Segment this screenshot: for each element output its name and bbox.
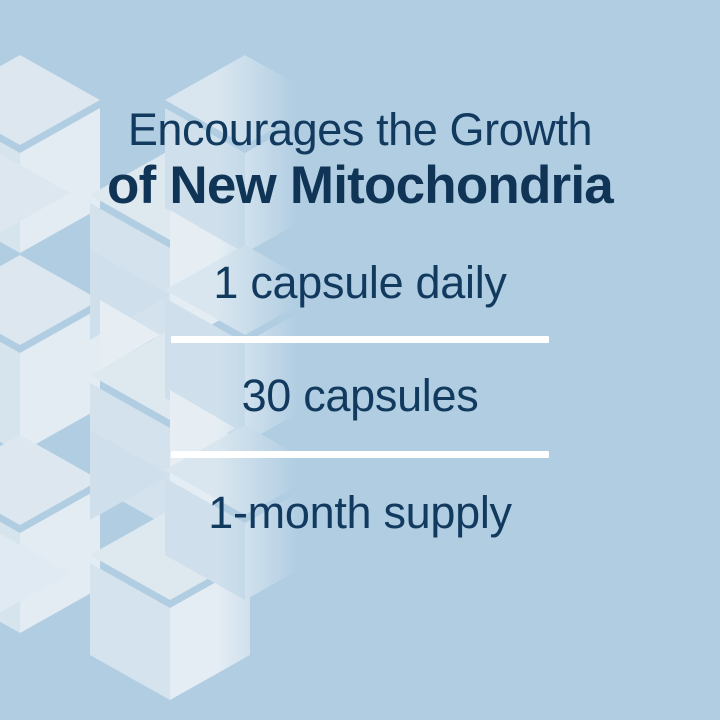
card-content: Encourages the Growth of New Mitochondri… bbox=[0, 0, 720, 720]
fact-supply-duration: 1-month supply bbox=[171, 486, 549, 540]
divider-2 bbox=[171, 451, 549, 458]
product-facts-list: 1 capsule daily 30 capsules 1-month supp… bbox=[171, 246, 549, 540]
fact-dosage: 1 capsule daily bbox=[171, 256, 549, 310]
fact-capsule-count: 30 capsules bbox=[171, 369, 549, 423]
product-benefit-card: Encourages the Growth of New Mitochondri… bbox=[0, 0, 720, 720]
headline-line-1: Encourages the Growth bbox=[0, 104, 720, 156]
headline-line-2: of New Mitochondria bbox=[0, 156, 720, 216]
divider-1 bbox=[171, 336, 549, 343]
headline-block: Encourages the Growth of New Mitochondri… bbox=[0, 104, 720, 216]
